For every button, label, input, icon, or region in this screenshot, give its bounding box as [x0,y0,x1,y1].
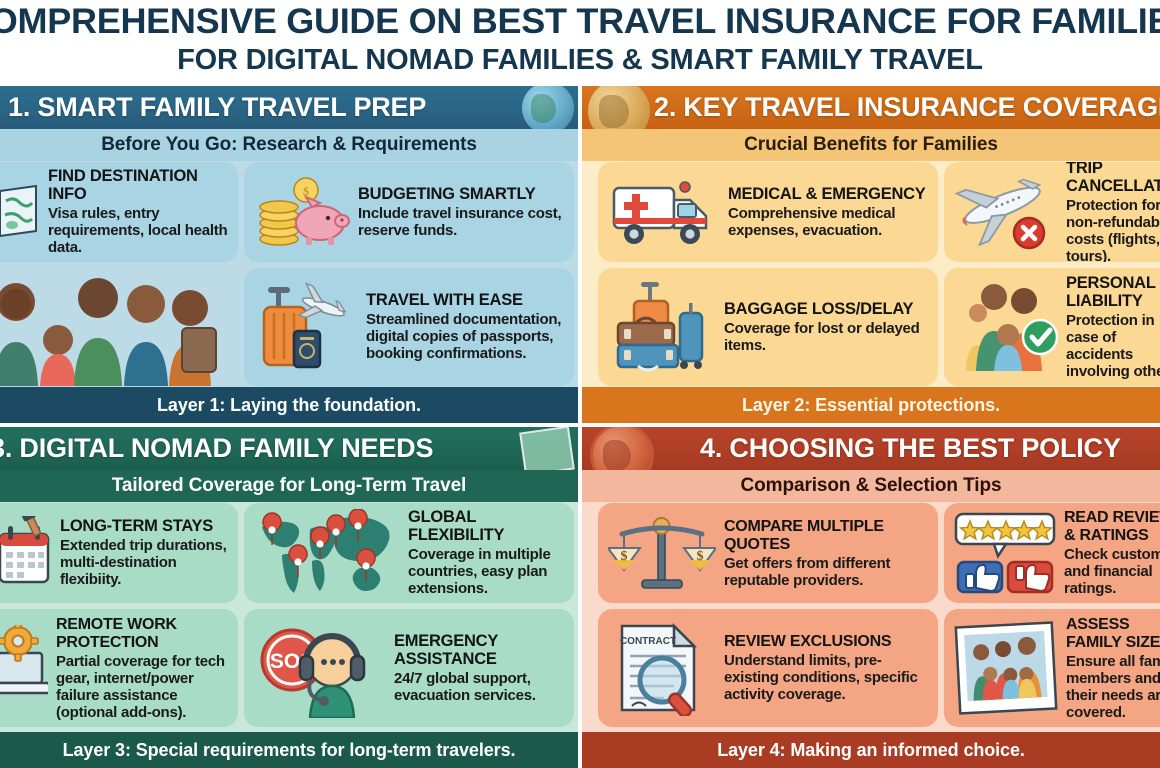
quadrant-grid: 1. SMART FAMILY TRAVEL PREP Before You G… [0,86,1160,768]
svg-text:$: $ [303,184,309,198]
family-photo-icon [954,621,1058,715]
svg-text:$: $ [621,549,628,564]
card-title: BUDGETING SMARTLY [358,185,536,203]
card-desc: Protection in case of accidents involvin… [1066,312,1160,380]
card-title: ASSESS FAMILY SIZE [1066,616,1160,651]
q2-subheader: Crucial Benefits for Families [582,129,1160,161]
q3-subheader-text: Tailored Coverage for Long-Term Travel [112,475,466,497]
card-text: GLOBAL FLEXIBILITY Coverage in multiple … [400,509,564,597]
q4-subheader: Comparison & Selection Tips [582,470,1160,502]
q4-cards: $ $ COMPARE MULTIPLE QUOTES Get offers f… [582,503,1160,732]
airplane-cancel-icon [954,171,1058,253]
card-title: MEDICAL & EMERGENCY [728,185,926,203]
card-text: MEDICAL & EMERGENCY Comprehensive medica… [720,186,928,239]
card-title: GLOBAL FLEXIBILITY [408,508,504,544]
card-desc: 24/7 global support, evacuation services… [394,670,564,704]
card-title: LONG-TERM STAYS [60,517,213,535]
card-desc: Get offers from different reputable prov… [724,555,928,589]
title-line-2: FOR DIGITAL NOMAD FAMILIES & SMART FAMIL… [177,43,983,77]
q2-header-bar: 2. KEY TRAVEL INSURANCE COVERAGE [582,86,1160,129]
card-desc: Coverage for lost or delayed items. [724,320,928,354]
card-text: LONG-TERM STAYS Extended trip durations,… [52,518,228,588]
q2-footer: Layer 2: Essential protections. [582,387,1160,423]
page-title: COMPREHENSIVE GUIDE ON BEST TRAVEL INSUR… [0,0,1160,86]
card-text: PERSONAL LIABILITY Protection in case of… [1058,275,1160,380]
luggage-stack-icon [608,279,716,375]
card-title: FIND DESTINATION INFO [48,167,198,203]
card-title: TRAVEL WITH EASE [366,291,523,309]
card-text: ASSESS FAMILY SIZE Ensure all family mem… [1058,616,1160,721]
card-desc: Include travel insurance cost, reserve f… [358,205,564,239]
card-desc: Streamlined documentation, digital copie… [366,311,564,362]
card-desc: Partial coverage for tech gear, internet… [56,653,228,721]
card-text: EMERGENCY ASSISTANCE 24/7 global support… [386,633,564,704]
q1-footer: Layer 1: Laying the foundation. [0,387,578,423]
q2-cards: MEDICAL & EMERGENCY Comprehensive medica… [582,162,1160,387]
svg-text:$: $ [697,549,704,564]
card-desc: Coverage in multiple countries, easy pla… [408,546,564,597]
q1-cards: FIND DESTINATION INFO Visa rules, entry … [0,162,578,387]
card-text: TRIP CANCELLATION Protection for non-ref… [1058,162,1160,262]
q1-title: 1. SMART FAMILY TRAVEL PREP [8,92,426,123]
map-document-icon [0,183,40,241]
quadrant-choosing-the-best-policy: 4. CHOOSING THE BEST POLICY Comparison &… [582,427,1160,768]
card-travel-with-ease[interactable]: TRAVEL WITH EASE Streamlined documentati… [244,268,574,386]
card-review-exclusions[interactable]: CONTRACT [598,609,938,727]
card-text: FIND DESTINATION INFO Visa rules, entry … [40,168,228,256]
q3-footer: Layer 3: Special requirements for long-t… [0,732,578,768]
card-long-term-stays[interactable]: LONG-TERM STAYS Extended trip durations,… [0,503,238,603]
card-text: READ REVIEWS & RATINGS Check customer an… [1056,509,1160,597]
laptop-gear-icon [0,625,48,711]
card-text: TRAVEL WITH EASE Streamlined documentati… [358,292,564,362]
infographic-page: COMPREHENSIVE GUIDE ON BEST TRAVEL INSUR… [0,0,1160,768]
card-family-photo-illustration [0,268,238,386]
card-text: REVIEW EXCLUSIONS Understand limits, pre… [716,633,928,703]
quadrant-key-travel-insurance-coverage: 2. KEY TRAVEL INSURANCE COVERAGE Crucial… [582,86,1160,423]
card-text: BAGGAGE LOSS/DELAY Coverage for lost or … [716,301,928,354]
q4-subheader-text: Comparison & Selection Tips [741,475,1002,497]
card-desc: Protection for non-refundable costs (fli… [1066,197,1160,263]
card-assess-family-size[interactable]: ASSESS FAMILY SIZE Ensure all family mem… [944,609,1160,727]
card-remote-work-protection[interactable]: REMOTE WORK PROTECTION Partial coverage … [0,609,238,727]
globe-icon [590,427,654,470]
card-desc: Understand limits, pre-existing conditio… [724,652,928,703]
q4-footer: Layer 4: Making an informed choice. [582,732,1160,768]
q3-header-bar: 3. DIGITAL NOMAD FAMILY NEEDS [0,427,578,470]
card-budgeting-smartly[interactable]: $ [244,162,574,262]
card-baggage-loss-delay[interactable]: BAGGAGE LOSS/DELAY Coverage for lost or … [598,268,938,386]
card-emergency-assistance[interactable]: SOS EMERG [244,609,574,727]
star-rating-thumbs-icon [954,510,1056,596]
card-global-flexibility[interactable]: GLOBAL FLEXIBILITY Coverage in multiple … [244,503,574,603]
svg-text:CONTRACT: CONTRACT [620,636,676,647]
card-desc: Extended trip durations, multi-destinati… [60,537,228,588]
card-title: TRIP CANCELLATION [1066,162,1160,195]
q3-footer-text: Layer 3: Special requirements for long-t… [63,740,516,761]
card-text: BUDGETING SMARTLY Include travel insuran… [350,186,564,239]
card-compare-multiple-quotes[interactable]: $ $ COMPARE MULTIPLE QUOTES Get offers f… [598,503,938,603]
family-group-icon [0,268,238,386]
sos-headset-icon: SOS [254,618,386,718]
map-icon [519,427,575,470]
q2-footer-text: Layer 2: Essential protections. [742,395,1000,416]
globe-icon [522,86,574,129]
card-title: EMERGENCY ASSISTANCE [394,632,498,668]
q3-subheader: Tailored Coverage for Long-Term Travel [0,470,578,502]
card-read-reviews-ratings[interactable]: READ REVIEWS & RATINGS Check customer an… [944,503,1160,603]
title-line-1: COMPREHENSIVE GUIDE ON BEST TRAVEL INSUR… [0,2,1160,42]
quadrant-digital-nomad-family-needs: 3. DIGITAL NOMAD FAMILY NEEDS Tailored C… [0,427,578,768]
calendar-clock-icon [0,516,52,590]
card-title: READ REVIEWS & RATINGS [1064,509,1160,544]
q4-footer-text: Layer 4: Making an informed choice. [717,740,1025,761]
q1-header-bar: 1. SMART FAMILY TRAVEL PREP [0,86,578,129]
family-check-icon [954,279,1058,375]
q1-footer-text: Layer 1: Laying the foundation. [157,395,421,416]
card-text: REMOTE WORK PROTECTION Partial coverage … [48,616,228,721]
card-medical-emergency[interactable]: MEDICAL & EMERGENCY Comprehensive medica… [598,162,938,262]
contract-magnifier-icon: CONTRACT [608,620,716,716]
card-desc: Ensure all family members and their need… [1066,653,1160,721]
card-title: PERSONAL LIABILITY [1066,274,1155,310]
q2-subheader-text: Crucial Benefits for Families [744,134,998,156]
quadrant-smart-family-travel-prep: 1. SMART FAMILY TRAVEL PREP Before You G… [0,86,578,423]
card-find-destination-info[interactable]: FIND DESTINATION INFO Visa rules, entry … [0,162,238,262]
q4-header-bar: 4. CHOOSING THE BEST POLICY [582,427,1160,470]
card-personal-liability[interactable]: PERSONAL LIABILITY Protection in case of… [944,268,1160,386]
card-title: BAGGAGE LOSS/DELAY [724,300,913,318]
ambulance-icon [608,174,720,250]
card-text: COMPARE MULTIPLE QUOTES Get offers from … [716,518,928,589]
world-map-pins-icon [254,509,400,597]
balance-scale-dollar-icon: $ $ [608,510,716,596]
card-title: REVIEW EXCLUSIONS [724,633,891,650]
q3-title: 3. DIGITAL NOMAD FAMILY NEEDS [0,433,433,464]
card-desc: Comprehensive medical expenses, evacuati… [728,205,928,239]
q4-title: 4. CHOOSING THE BEST POLICY [700,433,1121,464]
suitcase-airplane-passport-icon [254,279,358,375]
piggy-bank-coins-icon: $ [254,175,350,249]
card-title: COMPARE MULTIPLE QUOTES [724,518,884,553]
q1-subheader: Before You Go: Research & Requirements [0,129,578,161]
card-trip-cancellation[interactable]: TRIP CANCELLATION Protection for non-ref… [944,162,1160,262]
card-title: REMOTE WORK PROTECTION [56,616,177,651]
q1-subheader-text: Before You Go: Research & Requirements [101,134,477,156]
card-desc: Visa rules, entry requirements, local he… [48,205,228,256]
q3-cards: LONG-TERM STAYS Extended trip durations,… [0,503,578,732]
globe-icon [588,86,650,129]
q2-title: 2. KEY TRAVEL INSURANCE COVERAGE [654,92,1160,123]
card-desc: Check customer and financial ratings. [1064,546,1160,597]
